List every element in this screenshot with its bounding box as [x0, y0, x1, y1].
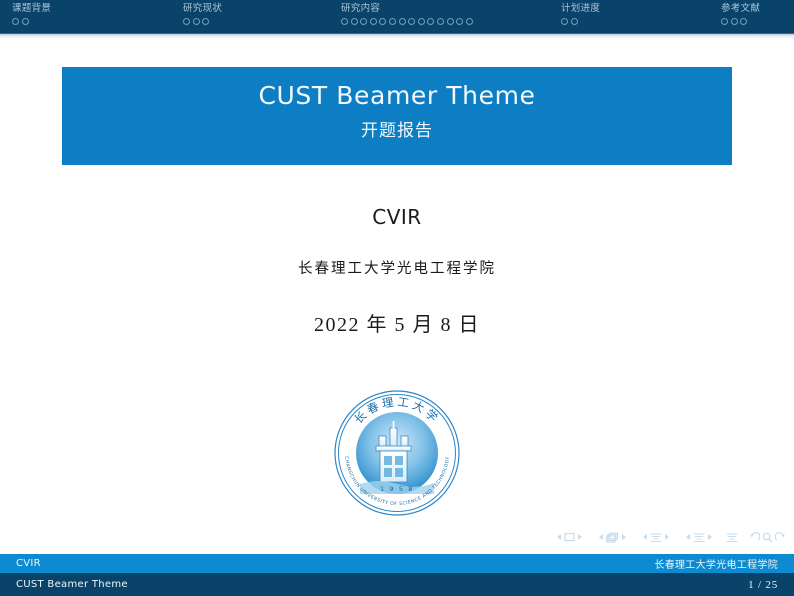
header-slide-dot[interactable] [466, 18, 473, 25]
footer-bar-primary: CVIR 长春理工大学光电工程学院 [0, 554, 794, 573]
frame-navigation-icon[interactable] [606, 532, 619, 543]
slide-navigation-group[interactable] [554, 532, 585, 542]
header-shadow-fade [0, 34, 794, 39]
header-section-3[interactable]: 计划进度 [561, 3, 600, 27]
header-slide-dot[interactable] [721, 18, 728, 25]
header-sections-container: 课题背景 研究现状 研究内容 计划进度 参考文献 [0, 0, 794, 34]
footer-institute: 长春理工大学光电工程学院 [654, 554, 778, 573]
subsection-navigation-group[interactable] [640, 532, 672, 543]
header-slide-dot[interactable] [351, 18, 358, 25]
forward-navigation-icon[interactable] [775, 532, 786, 543]
presentation-date: 2022 年 5 月 8 日 [0, 311, 794, 339]
header-slide-dot[interactable] [360, 18, 367, 25]
header-section-label: 参考文献 [721, 3, 760, 15]
page-subtitle: 开题报告 [62, 119, 732, 143]
frame-prev-icon[interactable] [599, 534, 603, 540]
header-slide-dot[interactable] [427, 18, 434, 25]
header-slide-dot[interactable] [740, 18, 747, 25]
header-slide-dot[interactable] [370, 18, 377, 25]
document-navigation-icon[interactable] [726, 532, 738, 543]
header-section-2[interactable]: 研究内容 [341, 3, 475, 27]
header-section-slide-dots[interactable] [341, 16, 475, 27]
slide-prev-icon[interactable] [557, 534, 561, 540]
header-slide-dot[interactable] [408, 18, 415, 25]
header-section-label: 研究现状 [183, 3, 222, 15]
slide-next-icon[interactable] [578, 534, 582, 540]
section-next-icon[interactable] [708, 534, 712, 540]
subsection-prev-icon[interactable] [643, 534, 647, 540]
header-section-1[interactable]: 研究现状 [183, 3, 222, 27]
footer-page-number: 1 / 25 [748, 573, 778, 596]
header-section-label: 计划进度 [561, 3, 600, 15]
header-section-4[interactable]: 参考文献 [721, 3, 760, 27]
header-slide-dot[interactable] [418, 18, 425, 25]
frame-navigation-group[interactable] [596, 532, 629, 543]
author-name: CVIR [0, 203, 794, 231]
header-slide-dot[interactable] [399, 18, 406, 25]
header-slide-dot[interactable] [447, 18, 454, 25]
institute-name: 长春理工大学光电工程学院 [0, 258, 794, 280]
footer-title: CUST Beamer Theme [16, 573, 128, 596]
back-navigation-icon[interactable] [749, 532, 760, 543]
slide-header-navigation-bar: 课题背景 研究现状 研究内容 计划进度 参考文献 [0, 0, 794, 34]
header-section-label: 研究内容 [341, 3, 475, 15]
beamer-navigation-symbols[interactable] [543, 528, 786, 546]
header-section-label: 课题背景 [12, 3, 51, 15]
header-slide-dot[interactable] [193, 18, 200, 25]
frame-next-icon[interactable] [622, 534, 626, 540]
footer-bar-secondary: CUST Beamer Theme 1 / 25 [0, 573, 794, 596]
document-navigation-group[interactable] [726, 532, 738, 543]
header-section-slide-dots[interactable] [561, 16, 600, 27]
header-slide-dot[interactable] [202, 18, 209, 25]
header-slide-dot[interactable] [379, 18, 386, 25]
header-slide-dot[interactable] [341, 18, 348, 25]
header-slide-dot[interactable] [183, 18, 190, 25]
header-slide-dot[interactable] [437, 18, 444, 25]
section-navigation-group[interactable] [683, 532, 715, 543]
header-slide-dot[interactable] [571, 18, 578, 25]
header-section-slide-dots[interactable] [183, 16, 222, 27]
header-section-0[interactable]: 课题背景 [12, 3, 51, 27]
title-block: CUST Beamer Theme 开题报告 [62, 67, 732, 165]
header-slide-dot[interactable] [456, 18, 463, 25]
header-slide-dot[interactable] [12, 18, 19, 25]
header-slide-dot[interactable] [731, 18, 738, 25]
search-navigation-icon[interactable] [762, 532, 773, 543]
header-slide-dot[interactable] [389, 18, 396, 25]
header-slide-dot[interactable] [22, 18, 29, 25]
footer-author: CVIR [16, 554, 41, 573]
logo-founding-year: 1 9 5 8 [380, 485, 414, 493]
section-navigation-icon[interactable] [693, 532, 705, 543]
page-title: CUST Beamer Theme [62, 79, 732, 113]
cust-university-logo: 1 9 5 8 长春理工大学 CHANGCHUN UNIVERSITY OF S… [332, 388, 462, 518]
subsection-navigation-icon[interactable] [650, 532, 662, 543]
subsection-next-icon[interactable] [665, 534, 669, 540]
logo-tower-emblem [376, 428, 411, 482]
slide-navigation-icon[interactable] [564, 532, 575, 542]
header-section-slide-dots[interactable] [721, 16, 760, 27]
header-section-slide-dots[interactable] [12, 16, 51, 27]
section-prev-icon[interactable] [686, 534, 690, 540]
back-search-forward-group[interactable] [749, 532, 786, 543]
header-slide-dot[interactable] [561, 18, 568, 25]
